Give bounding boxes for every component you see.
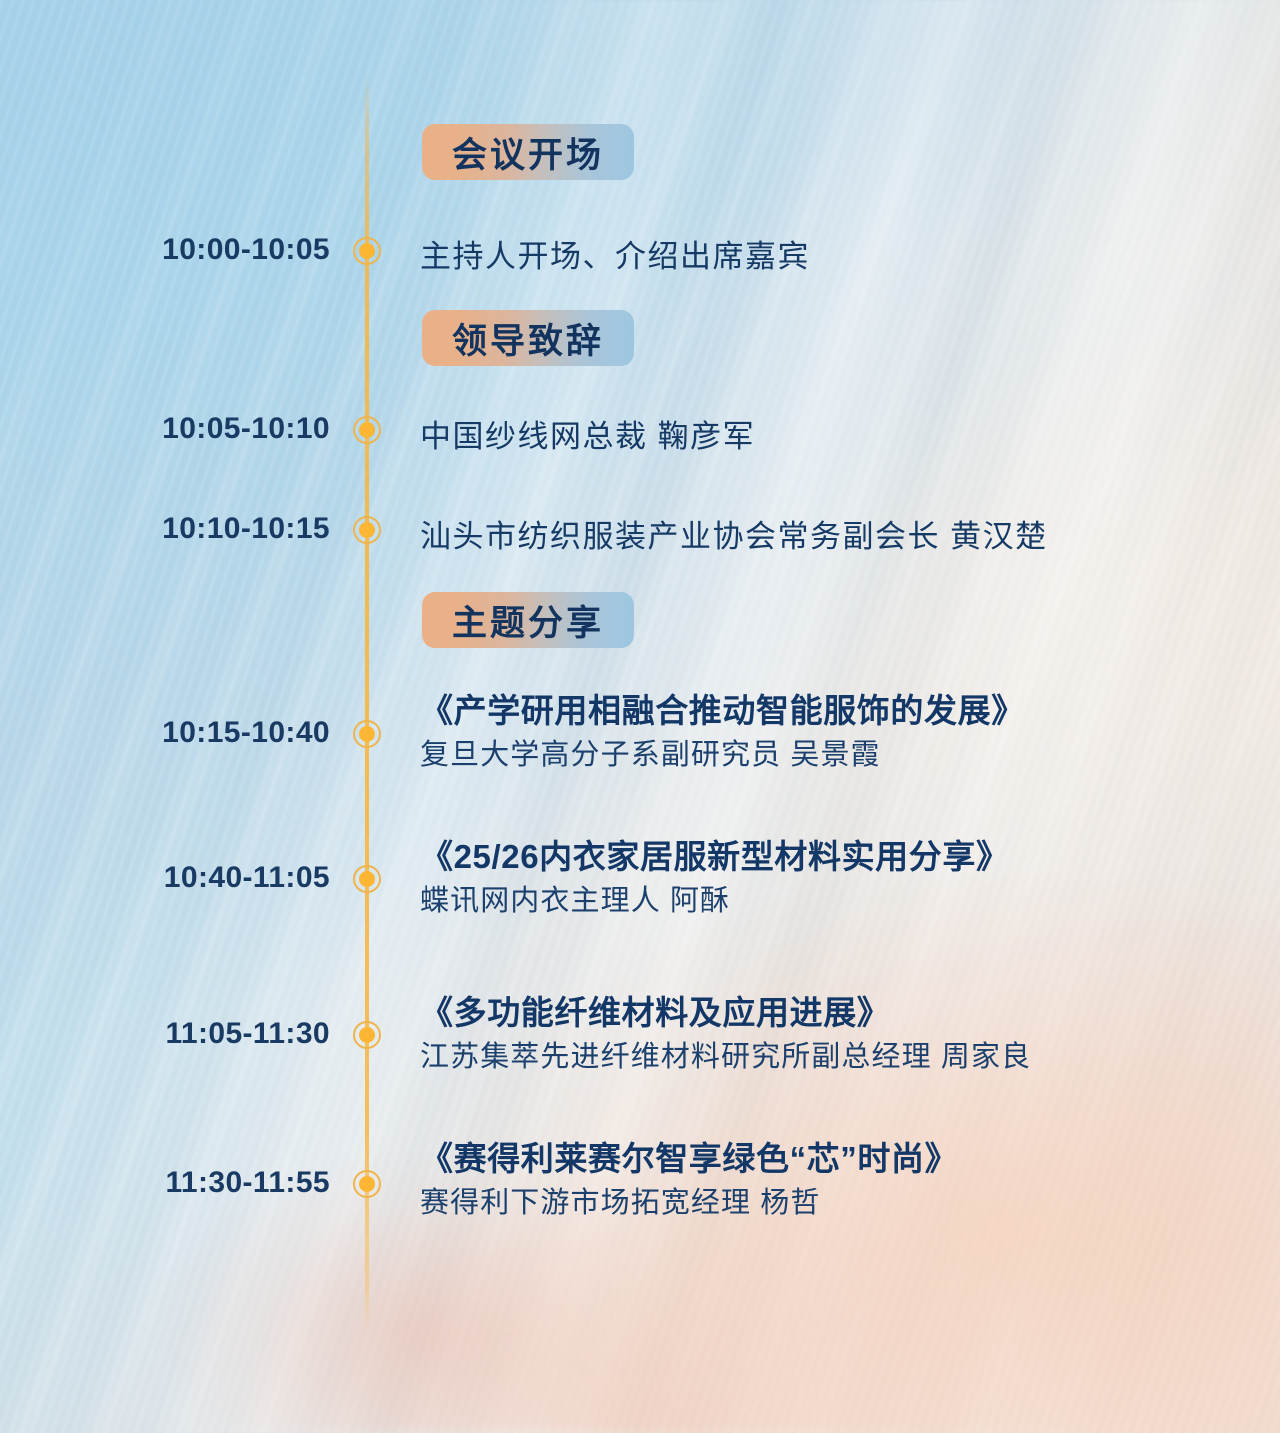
agenda-time-label: 10:00-10:05: [100, 233, 330, 267]
section-badge: 领导致辞: [422, 310, 634, 366]
timeline-dot-core: [359, 871, 375, 887]
timeline-dot-icon: [351, 514, 383, 546]
agenda-entry-speaker: 蝶讯网内衣主理人 阿酥: [420, 883, 1010, 921]
agenda-entry: 《产学研用相融合推动智能服饰的发展》复旦大学高分子系副研究员 吴景霞: [420, 692, 1025, 775]
agenda-entry-speaker: 赛得利下游市场拓宽经理 杨哲: [420, 1185, 958, 1223]
agenda-entry-text: 中国纱线网总裁 鞠彦军: [420, 411, 755, 456]
agenda-entry-speaker: 复旦大学高分子系副研究员 吴景霞: [420, 737, 1025, 775]
agenda-time-label: 10:05-10:10: [100, 412, 330, 446]
timeline-dot-core: [359, 522, 375, 538]
agenda-entry-text: 汕头市纺织服装产业协会常务副会长 黄汉楚: [420, 511, 1048, 556]
timeline-dot-icon: [351, 718, 383, 750]
section-badge: 会议开场: [422, 124, 634, 180]
agenda-entry-speaker: 江苏集萃先进纤维材料研究所副总经理 周家良: [420, 1039, 1031, 1077]
timeline-dot-icon: [351, 1019, 383, 1051]
timeline-dot-icon: [351, 414, 383, 446]
agenda-timeline: 会议开场领导致辞主题分享10:00-10:05主持人开场、介绍出席嘉宾10:05…: [0, 0, 1280, 1433]
agenda-entry: 《赛得利莱赛尔智享绿色“芯”时尚》赛得利下游市场拓宽经理 杨哲: [420, 1140, 958, 1223]
section-badge: 主题分享: [422, 592, 634, 648]
agenda-entry: 《多功能纤维材料及应用进展》江苏集萃先进纤维材料研究所副总经理 周家良: [420, 994, 1031, 1077]
agenda-entry: 汕头市纺织服装产业协会常务副会长 黄汉楚: [420, 511, 1048, 556]
agenda-time-label: 11:05-11:30: [100, 1017, 330, 1051]
agenda-entry: 中国纱线网总裁 鞠彦军: [420, 411, 755, 456]
agenda-entry-title: 《多功能纤维材料及应用进展》: [420, 994, 1031, 1033]
agenda-time-label: 10:10-10:15: [100, 512, 330, 546]
agenda-entry: 《25/26内衣家居服新型材料实用分享》蝶讯网内衣主理人 阿酥: [420, 838, 1010, 921]
timeline-dot-icon: [351, 863, 383, 895]
timeline-dot-core: [359, 1176, 375, 1192]
timeline-dot-core: [359, 726, 375, 742]
agenda-time-label: 11:30-11:55: [100, 1166, 330, 1200]
timeline-dot-core: [359, 1027, 375, 1043]
agenda-entry-text: 主持人开场、介绍出席嘉宾: [420, 231, 810, 276]
agenda-time-label: 10:15-10:40: [100, 716, 330, 750]
agenda-entry-title: 《25/26内衣家居服新型材料实用分享》: [420, 838, 1010, 877]
timeline-dot-icon: [351, 235, 383, 267]
timeline-dot-core: [359, 243, 375, 259]
agenda-entry-title: 《赛得利莱赛尔智享绿色“芯”时尚》: [420, 1140, 958, 1179]
timeline-dot-icon: [351, 1168, 383, 1200]
timeline-dot-core: [359, 422, 375, 438]
agenda-entry: 主持人开场、介绍出席嘉宾: [420, 231, 810, 276]
agenda-entry-title: 《产学研用相融合推动智能服饰的发展》: [420, 692, 1025, 731]
agenda-time-label: 10:40-11:05: [100, 861, 330, 895]
